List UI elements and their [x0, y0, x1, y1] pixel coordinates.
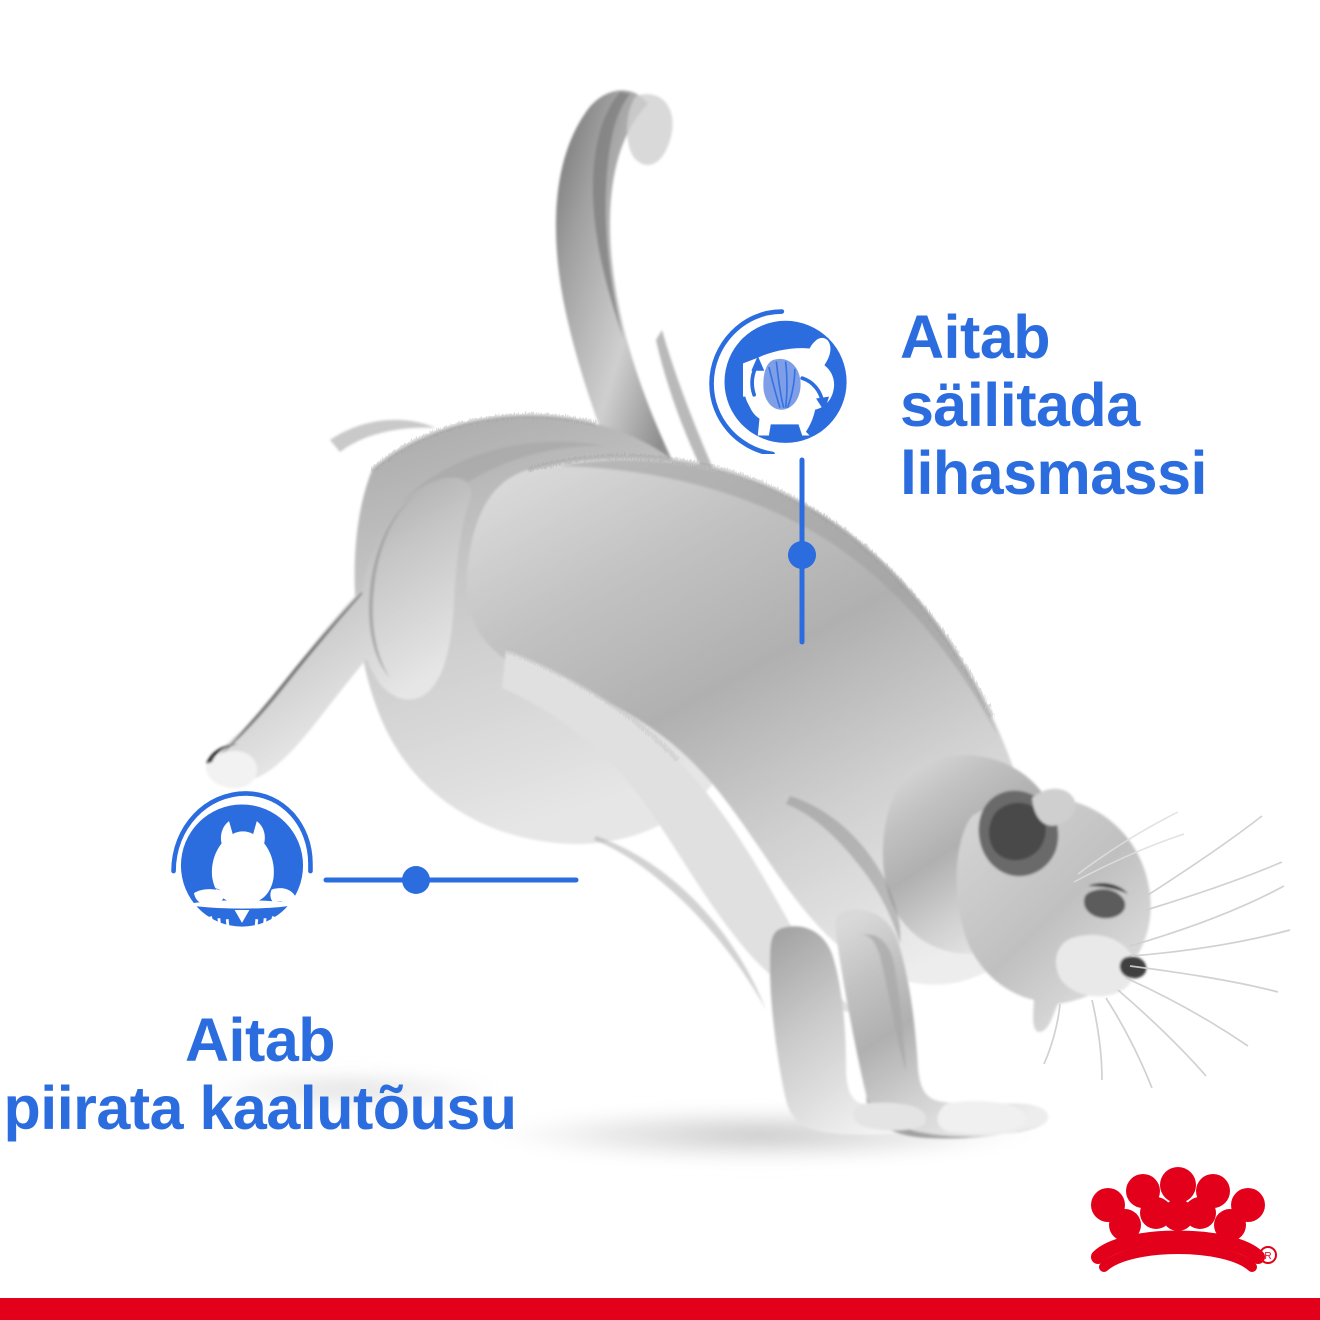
callout-line: säilitada [900, 371, 1207, 439]
bottom-red-band [0, 1298, 1320, 1320]
cat-on-scale-with-bowl-icon [168, 786, 316, 934]
callout-line: lihasmassi [900, 439, 1207, 507]
cat-muscle-mass-icon [706, 306, 854, 454]
connector-horizontal [318, 858, 588, 898]
connector-vertical [782, 452, 822, 652]
callout-muscle-mass-text: Aitab säilitada lihasmassi [900, 303, 1207, 507]
product-benefit-banner: Aitab säilitada lihasmassi [0, 0, 1320, 1320]
callout-line: Aitab [900, 303, 1207, 371]
callout-line: piirata kaalutõusu [0, 1074, 520, 1142]
callout-weight-control-text: Aitab piirata kaalutõusu [0, 1006, 520, 1142]
svg-text:R: R [1264, 1251, 1271, 1262]
royal-canin-logo: R [1070, 1163, 1285, 1275]
royal-canin-crown-icon [1091, 1167, 1265, 1267]
callout-line: Aitab [0, 1006, 520, 1074]
